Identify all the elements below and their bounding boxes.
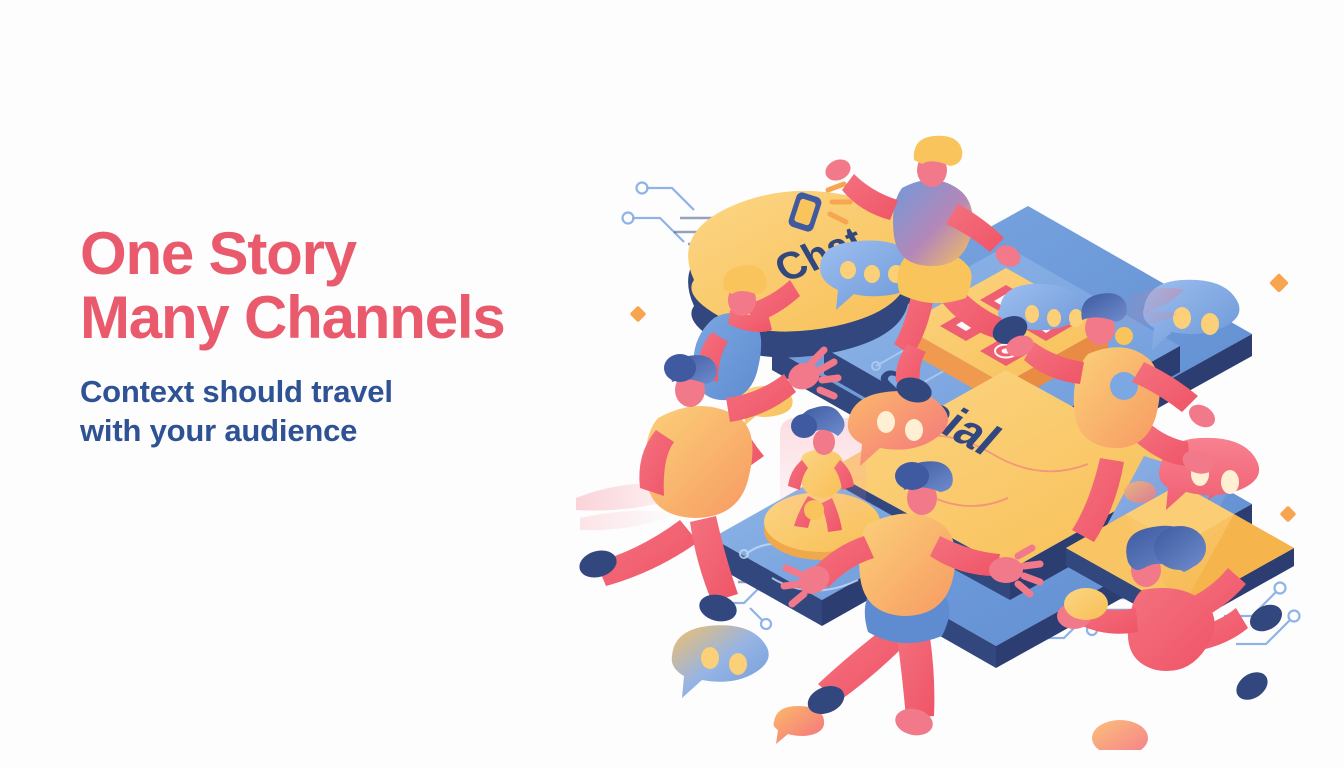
headline-line-2: Many Channels (80, 286, 600, 350)
hero-banner: One Story Many Channels Context should t… (0, 0, 1344, 768)
page-title: One Story Many Channels (80, 222, 600, 349)
copy-block: One Story Many Channels Context should t… (80, 222, 600, 450)
omnichannel-illustration: Social Chat (576, 18, 1344, 750)
page-subtitle: Context should travel with your audience (80, 373, 600, 450)
subhead-line-1: Context should travel (80, 374, 393, 409)
subhead-line-2: with your audience (80, 412, 600, 450)
headline-line-1: One Story (80, 220, 356, 287)
speech-bubble-blue-left (672, 625, 769, 698)
